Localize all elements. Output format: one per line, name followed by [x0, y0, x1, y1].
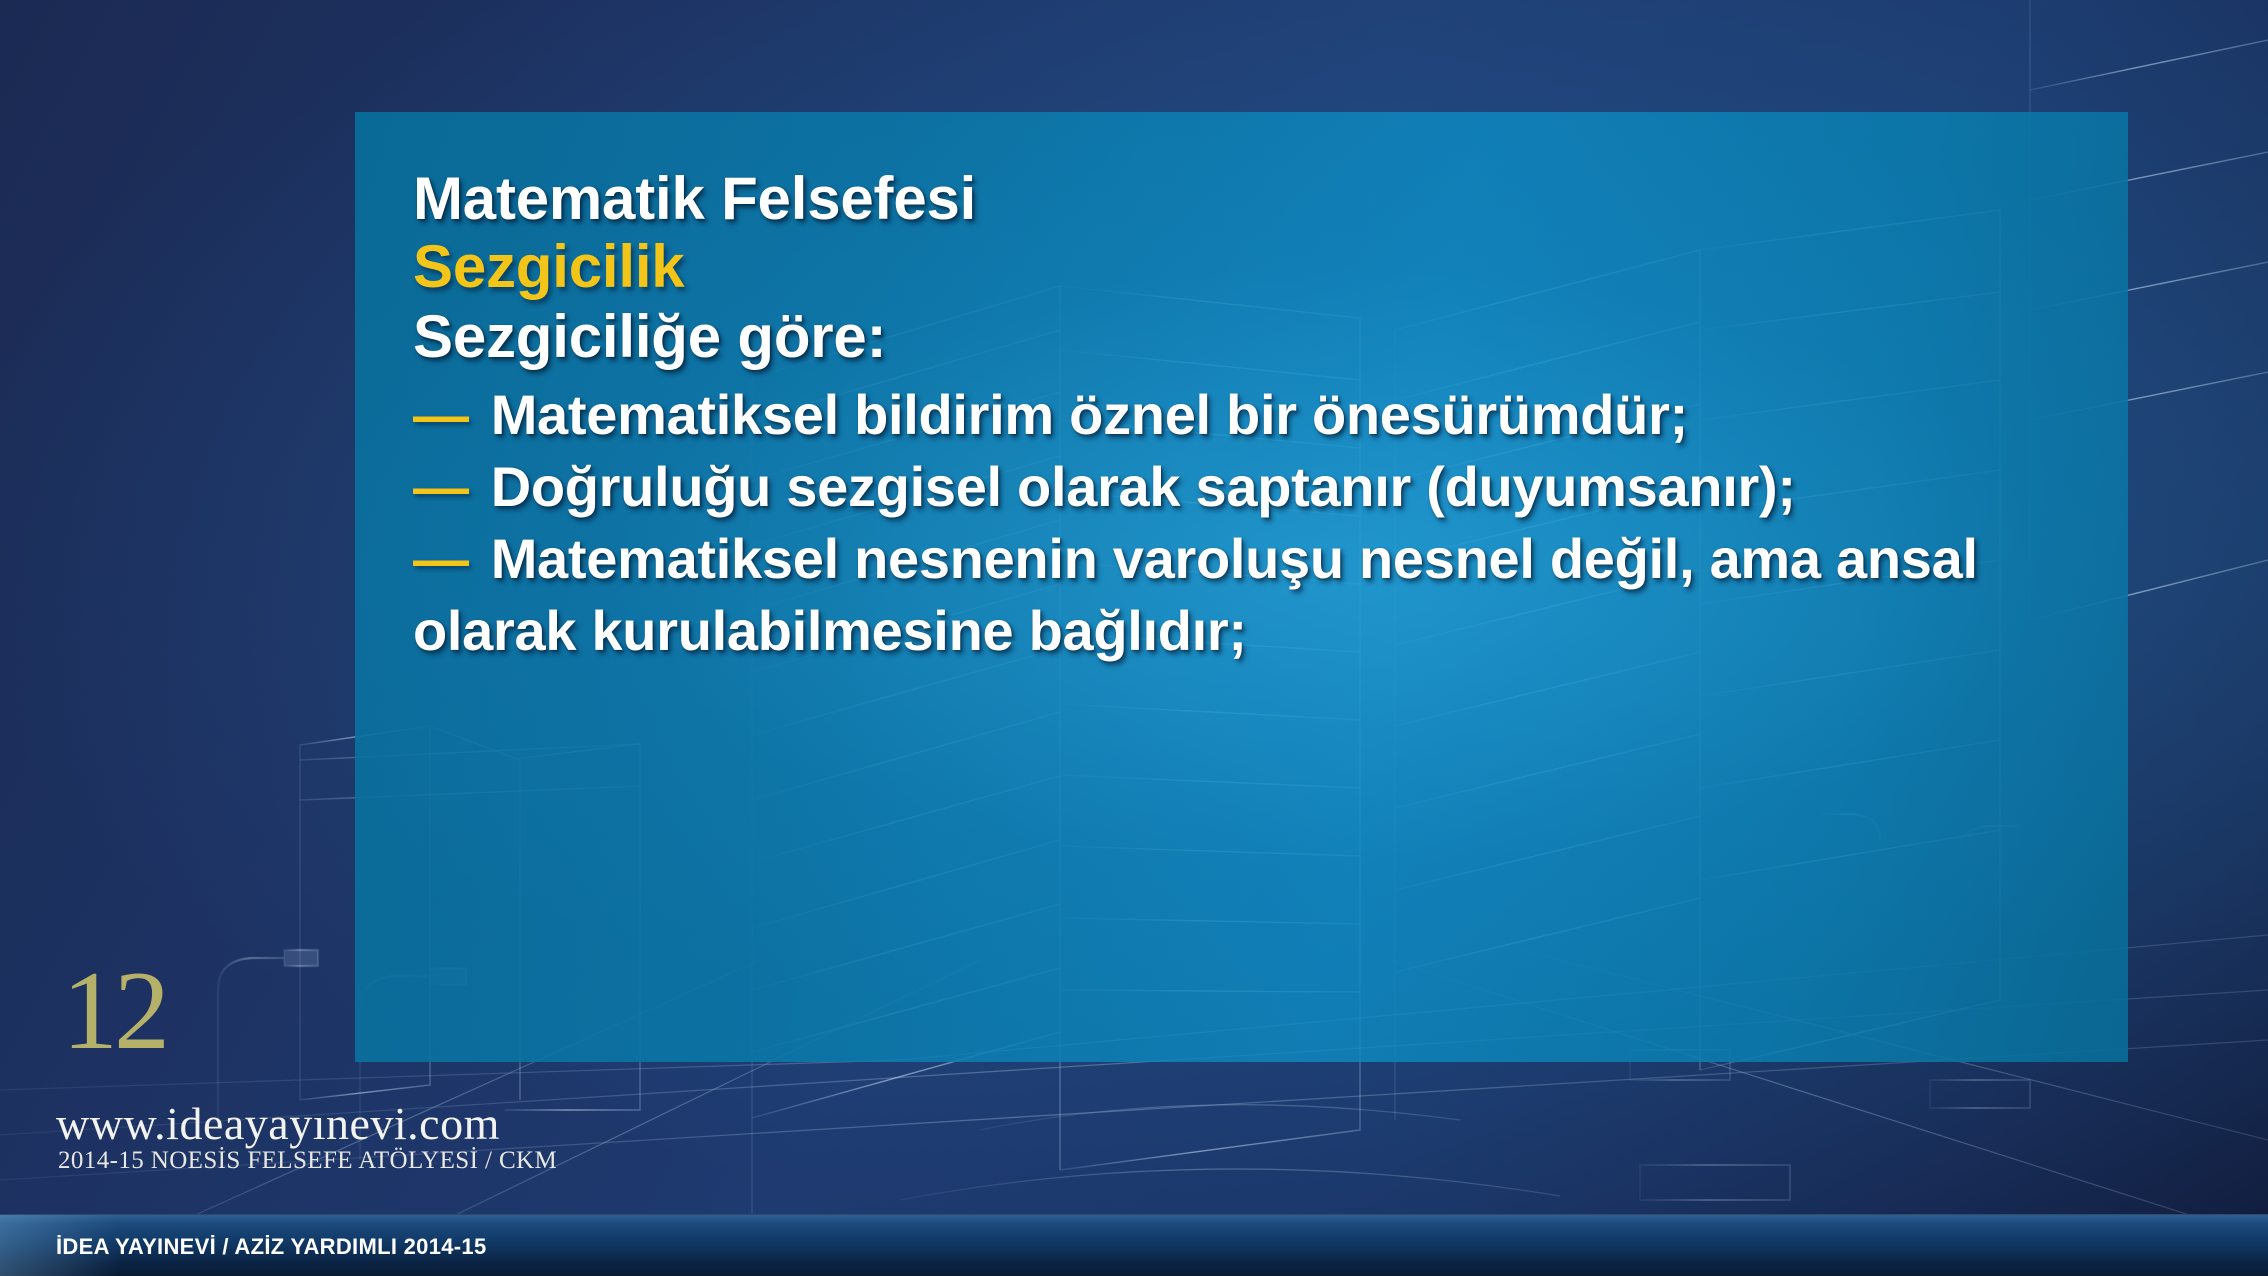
dash-bullet-icon: — — [413, 455, 469, 518]
list-item-text: Doğruluğu sezgisel olarak saptanır (duyu… — [491, 455, 1796, 518]
list-item: —Matematiksel bildirim öznel bir önesürü… — [413, 379, 2173, 451]
slide-heading-sub: Sezgiciliğe göre: — [413, 301, 2173, 373]
dash-bullet-icon: — — [413, 383, 469, 446]
list-item-text: Matematiksel bildirim öznel bir önesürüm… — [491, 383, 1688, 446]
slide-heading-primary: Matematik Felsefesi — [413, 165, 2173, 233]
list-item: —Matematiksel nesnenin varoluşu nesnel d… — [413, 523, 2173, 595]
dash-bullet-icon: — — [413, 527, 469, 590]
list-item-continuation: olarak kurulabilmesine bağlıdır; — [413, 595, 2173, 667]
bottom-bar-text: İDEA YAYINEVİ / AZİZ YARDIMLI 2014-15 — [56, 1234, 487, 1260]
website-url: www.ideayayınevi.com — [56, 1100, 500, 1148]
slide-text-block: Matematik Felsefesi Sezgicilik Sezgicili… — [413, 165, 2173, 667]
list-item: —Doğruluğu sezgisel olarak saptanır (duy… — [413, 451, 2173, 523]
presentation-slide: Matematik Felsefesi Sezgicilik Sezgicili… — [0, 0, 2268, 1276]
bullet-list: —Matematiksel bildirim öznel bir önesürü… — [413, 379, 2173, 667]
page-number: 12 — [62, 955, 166, 1067]
list-item-text: Matematiksel nesnenin varoluşu nesnel de… — [491, 527, 1978, 590]
credit-line: 2014-15 NOESİS FELSEFE ATÖLYESİ / CKM — [58, 1148, 557, 1174]
bottom-bar: İDEA YAYINEVİ / AZİZ YARDIMLI 2014-15 — [0, 1214, 2268, 1276]
slide-heading-accent: Sezgicilik — [413, 233, 2173, 301]
